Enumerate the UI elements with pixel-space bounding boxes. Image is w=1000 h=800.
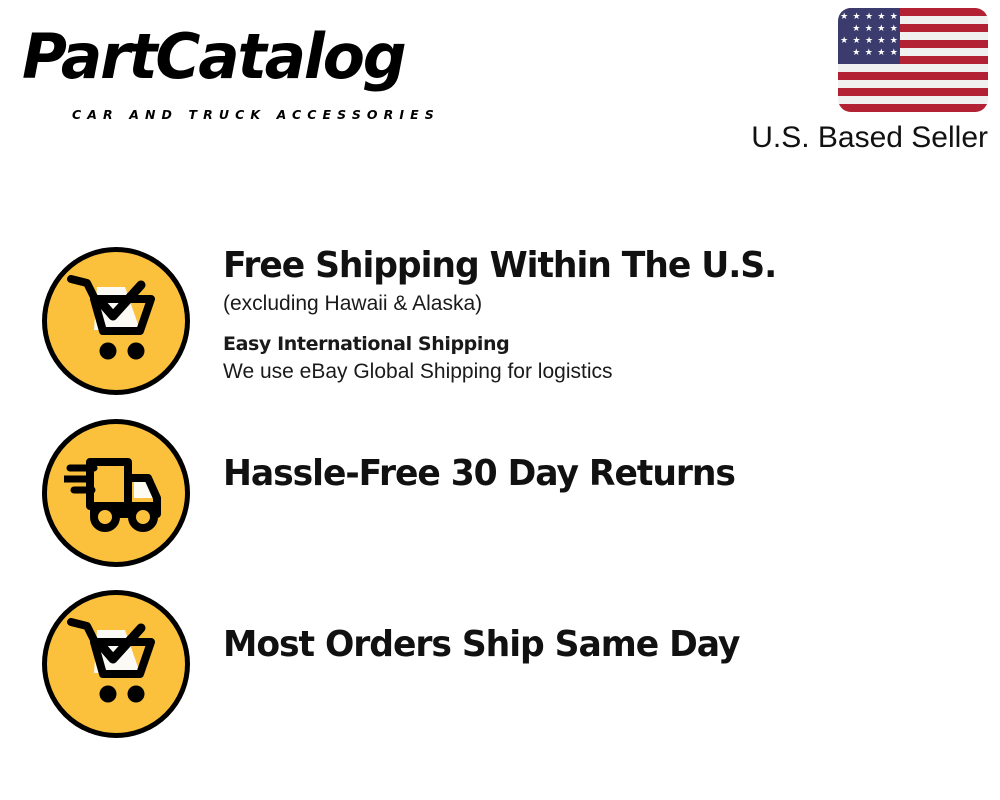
feature-subheading: Easy International Shipping [223,330,953,358]
feature-title: Most Orders Ship Same Day [223,624,924,666]
feature-note: (excluding Hawaii & Alaska) [223,290,953,318]
feature-text-block: Free Shipping Within The U.S. (excluding… [223,245,953,386]
feature-text-block: Hassle-Free 30 Day Returns [223,453,953,495]
feature-subtext: We use eBay Global Shipping for logistic… [223,358,953,386]
list-item: Most Orders Ship Same Day [40,590,960,742]
delivery-truck-icon [42,419,190,567]
feature-list: Free Shipping Within The U.S. (excluding… [0,0,1000,800]
shopping-cart-check-icon [42,247,190,395]
shopping-cart-check-icon [42,590,190,738]
feature-text-block: Most Orders Ship Same Day [223,624,953,666]
list-item: Hassle-Free 30 Day Returns [40,419,960,571]
feature-title: Free Shipping Within The U.S. [223,245,924,287]
list-item: Free Shipping Within The U.S. (excluding… [40,247,960,399]
feature-title: Hassle-Free 30 Day Returns [223,453,924,495]
